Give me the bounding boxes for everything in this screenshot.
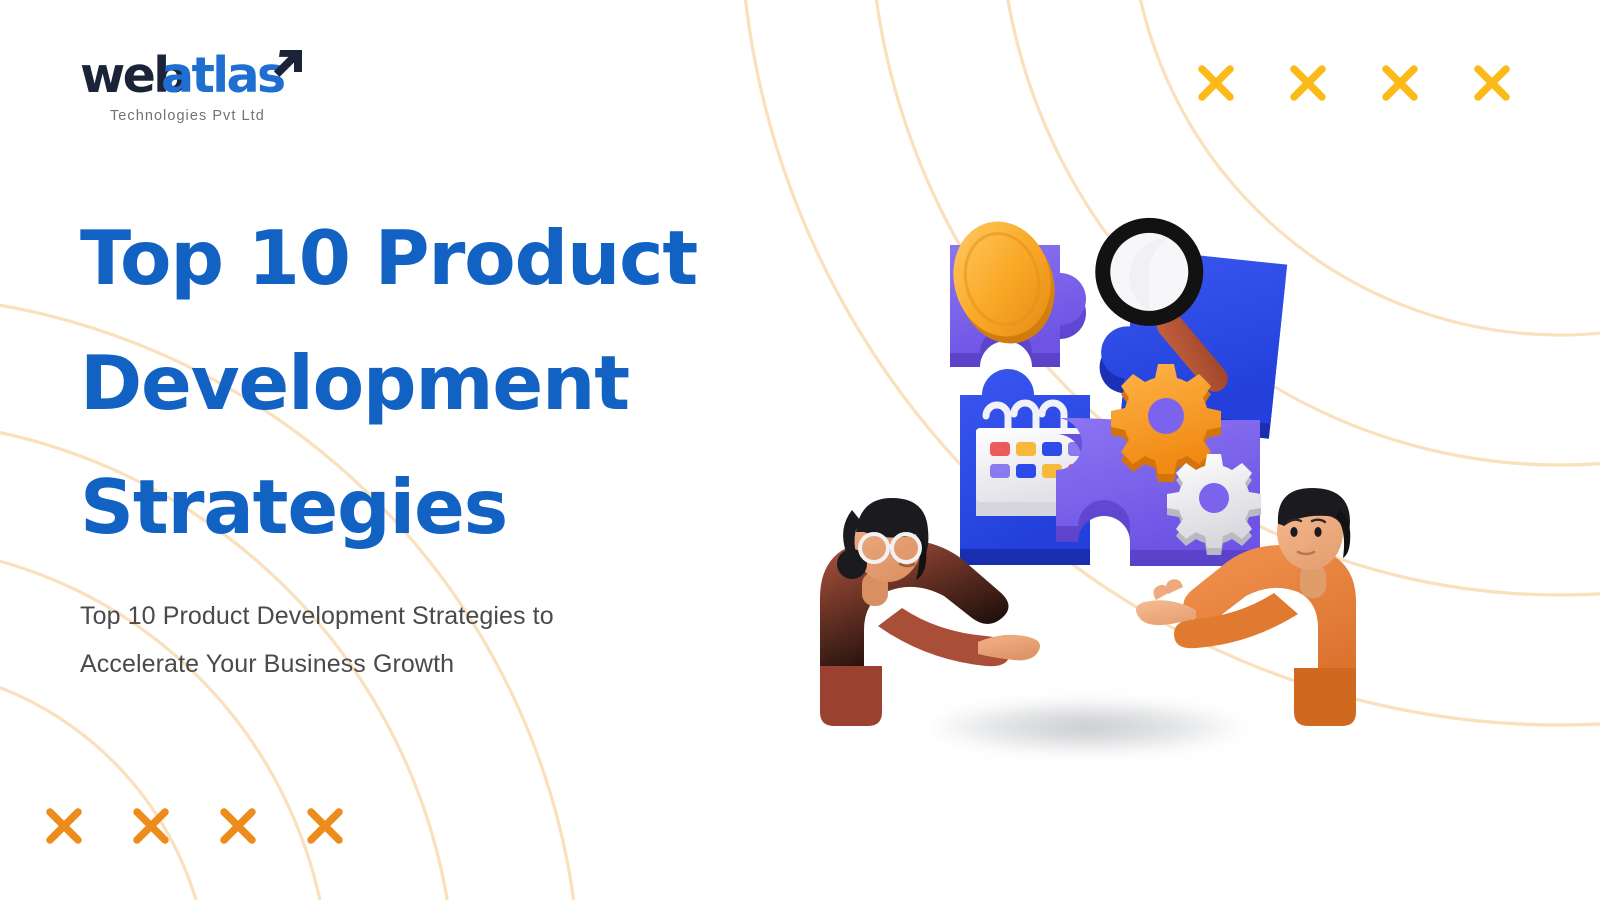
webatlas-logo[interactable]: web atlas Technologies Pvt Ltd [80,46,340,132]
banner-canvas: web atlas Technologies Pvt Ltd Top 10 Pr… [0,0,1600,900]
calendar-swatch [1016,464,1036,478]
calendar-swatch [1042,442,1062,456]
x-mark-icon [1195,62,1237,104]
teamwork-puzzle-illustration [800,180,1400,740]
calendar-swatch [990,464,1010,478]
logo-wordmark: web atlas [80,46,340,108]
x-marks-bottom-left [42,804,347,848]
eye [1314,527,1321,537]
eye [1290,527,1297,537]
logo-tagline: Technologies Pvt Ltd [110,108,265,124]
x-mark-icon [1379,62,1421,104]
calendar-swatch [990,442,1010,456]
headline-line-3: Strategies [80,445,780,570]
illustration-svg [800,180,1400,740]
puzzle-piece-coin [941,211,1086,367]
headline-line-2: Development [80,321,780,446]
calendar-swatch [1016,442,1036,456]
x-mark-icon [129,804,173,848]
x-mark-icon [216,804,260,848]
x-mark-icon [1471,62,1513,104]
page-subtitle: Top 10 Product Development Strategies to… [80,592,720,688]
x-mark-icon [42,804,86,848]
x-marks-top-right [1195,62,1513,104]
logo-atlas-text: atlas [161,47,284,104]
headline-line-1: Top 10 Product [80,196,780,321]
x-mark-icon [303,804,347,848]
x-mark-icon [1287,62,1329,104]
subtitle-line-1: Top 10 Product Development Strategies to [80,592,720,640]
page-title: Top 10 Product Development Strategies [80,196,780,570]
subtitle-line-2: Accelerate Your Business Growth [80,640,720,688]
